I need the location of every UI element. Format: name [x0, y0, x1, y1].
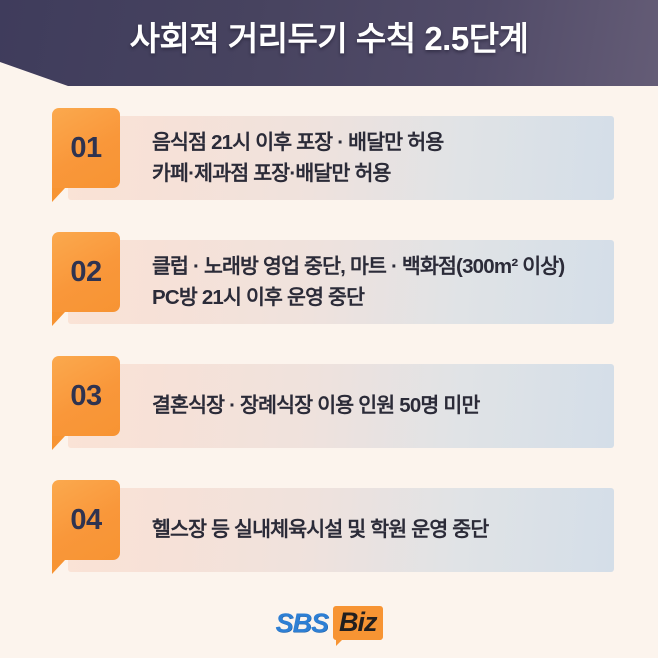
rule-line: 카페·제과점 포장·배달만 허용: [152, 158, 622, 189]
logo-biz-box: Biz: [333, 606, 383, 640]
rule-item-01: 01 음식점 21시 이후 포장 · 배달만 허용 카페·제과점 포장·배달만 …: [0, 108, 658, 204]
rule-text: 결혼식장 · 장례식장 이용 인원 50명 미만: [152, 364, 622, 448]
rule-number-badge: 01: [52, 108, 120, 188]
rule-number-label: 01: [52, 108, 120, 188]
rule-line: PC방 21시 이후 운영 중단: [152, 282, 622, 313]
rule-line: 클럽 · 노래방 영업 중단, 마트 · 백화점(300m² 이상): [152, 251, 622, 282]
rule-number-badge: 04: [52, 480, 120, 560]
rule-number-label: 04: [52, 480, 120, 560]
rule-line: 음식점 21시 이후 포장 · 배달만 허용: [152, 127, 622, 158]
rule-list: 01 음식점 21시 이후 포장 · 배달만 허용 카페·제과점 포장·배달만 …: [0, 108, 658, 604]
rule-text: 음식점 21시 이후 포장 · 배달만 허용 카페·제과점 포장·배달만 허용: [152, 116, 622, 200]
rule-number-label: 02: [52, 232, 120, 312]
rule-number-badge: 02: [52, 232, 120, 312]
rule-text: 헬스장 등 실내체육시설 및 학원 운영 중단: [152, 488, 622, 572]
sbs-biz-logo: SBS Biz: [0, 606, 658, 640]
rule-number-badge: 03: [52, 356, 120, 436]
rule-line: 헬스장 등 실내체육시설 및 학원 운영 중단: [152, 517, 622, 543]
rule-item-03: 03 결혼식장 · 장례식장 이용 인원 50명 미만: [0, 356, 658, 452]
header-banner: 사회적 거리두기 수칙 2.5단계: [0, 0, 658, 86]
rule-item-02: 02 클럽 · 노래방 영업 중단, 마트 · 백화점(300m² 이상) PC…: [0, 232, 658, 328]
logo-sbs-text: SBS: [275, 608, 328, 639]
rule-text: 클럽 · 노래방 영업 중단, 마트 · 백화점(300m² 이상) PC방 2…: [152, 240, 622, 324]
rule-number-label: 03: [52, 356, 120, 436]
page-title: 사회적 거리두기 수칙 2.5단계: [130, 12, 529, 60]
rule-line: 결혼식장 · 장례식장 이용 인원 50명 미만: [152, 393, 622, 419]
rule-item-04: 04 헬스장 등 실내체육시설 및 학원 운영 중단: [0, 480, 658, 576]
logo-biz-text: Biz: [339, 607, 377, 637]
